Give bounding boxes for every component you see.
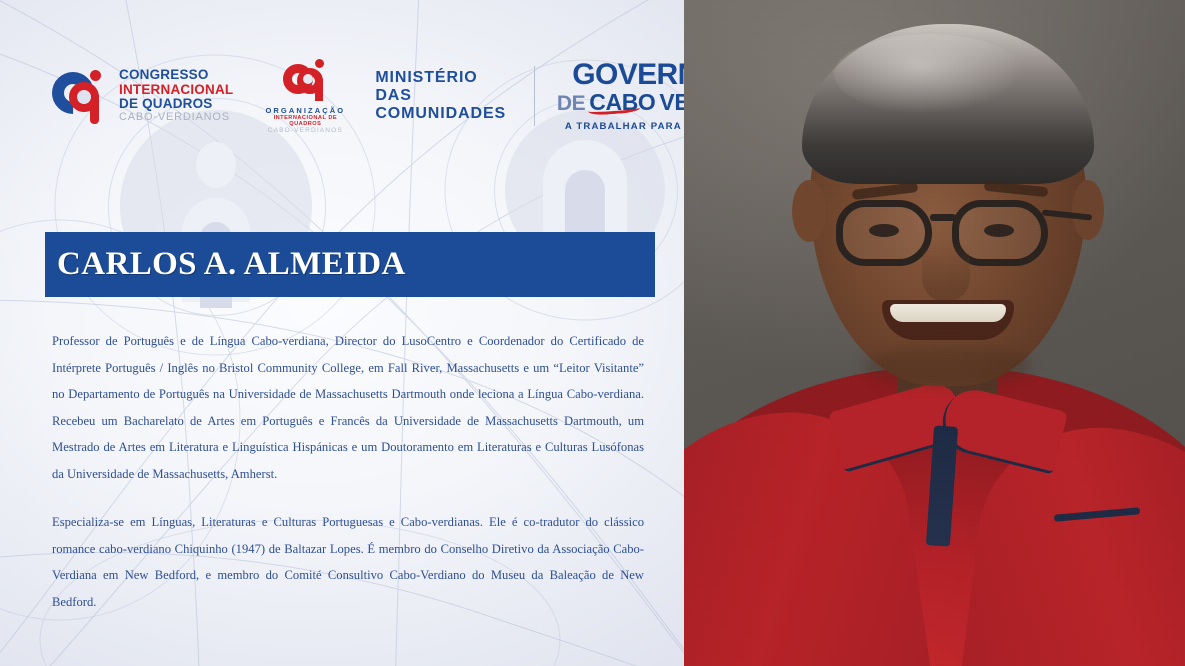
logo-ministerio-line2: COMUNIDADES [375,105,506,123]
logo-organizacao: ORGANIZAÇÃO INTERNACIONAL DE QUADROS CAB… [265,59,345,134]
logo-divider [534,66,535,126]
portrait-mouth [882,300,1014,340]
logo-governo-verde: VERDE [659,90,684,114]
logo-governo-cabo: CABO [589,90,655,114]
logo-organizacao-line2: INTERNACIONAL DE QUADROS [265,115,345,127]
glasses-lens-left-icon [836,200,932,266]
speaker-name-banner: CARLOS A. ALMEIDA [45,232,655,297]
glasses-bridge-icon [930,214,956,221]
bio-paragraph-1: Professor de Português e de Língua Cabo-… [52,328,644,487]
logo-congresso-line3: DE QUADROS [119,97,233,112]
presentation-slide: CONGRESSO INTERNACIONAL DE QUADROS CABO-… [0,0,1185,666]
logo-congresso-line4: CABO-VERDIANOS [119,112,233,124]
logo-organizacao-line1: ORGANIZAÇÃO [265,106,345,115]
cq-logo-mark-red-icon [283,59,327,101]
portrait-chin-shadow [864,346,1032,386]
logo-congresso-wordmark: CONGRESSO INTERNACIONAL DE QUADROS CABO-… [119,68,233,124]
logo-congresso: CONGRESSO INTERNACIONAL DE QUADROS CABO-… [52,68,233,124]
portrait-teeth [890,304,1006,322]
logo-governo-tagline: A TRABALHAR PARA TODOS. [557,121,684,132]
cq-logo-mark-icon [52,68,108,124]
speaker-biography: Professor de Português e de Língua Cabo-… [52,328,644,615]
logo-organizacao-line3: CABO-VERDIANOS [265,127,345,134]
portrait-ear-right [1072,180,1104,240]
portrait-ear-left [792,180,826,242]
logo-governo-line2: DE CABO VERDE [557,90,684,115]
logo-governo-line1: GOVERNO [557,60,684,90]
logo-congresso-line2: INTERNACIONAL [119,83,233,98]
page-title: CARLOS A. ALMEIDA [57,246,406,283]
logo-congresso-line1: CONGRESSO [119,68,233,83]
logo-governo-de-cabo-verde: GOVERNO DE CABO VERDE A TRABALHAR PARA T… [557,60,684,131]
portrait-nose [922,244,970,302]
speaker-portrait-photo [684,0,1185,666]
logo-bar: CONGRESSO INTERNACIONAL DE QUADROS CABO-… [52,58,684,134]
logo-ministerio-das-comunidades: MINISTÉRIO DAS COMUNIDADES [375,69,506,123]
left-content-panel: CONGRESSO INTERNACIONAL DE QUADROS CABO-… [0,0,684,666]
portrait-hair-highlight [834,34,1024,114]
bio-paragraph-2: Especializa-se em Línguas, Literaturas e… [52,509,644,615]
logo-governo-de: DE [557,93,585,115]
logo-ministerio-line1: MINISTÉRIO DAS [375,69,506,105]
